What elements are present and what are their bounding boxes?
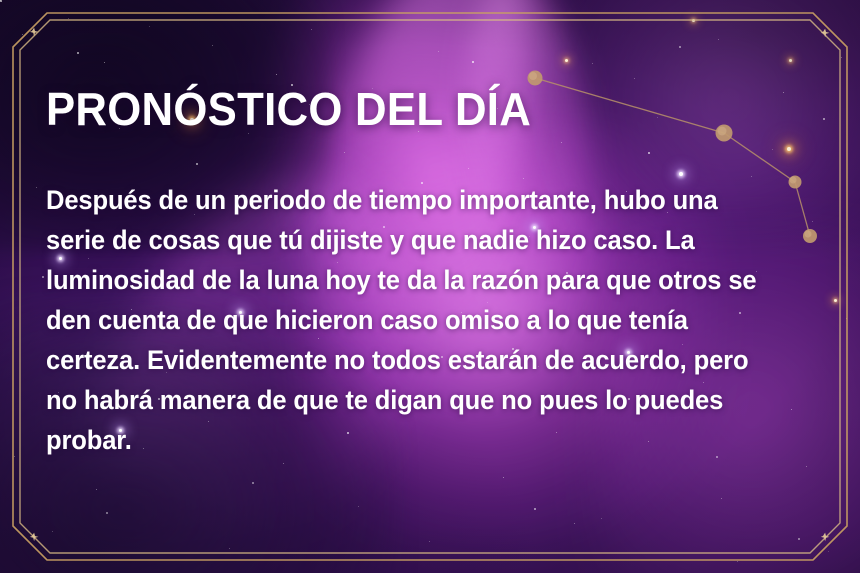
horoscope-card: PRONÓSTICO DEL DÍA Después de un periodo… bbox=[0, 0, 860, 573]
horoscope-body-text: Después de un periodo de tiempo importan… bbox=[46, 132, 781, 460]
page-title: PRONÓSTICO DEL DÍA bbox=[46, 86, 778, 132]
card-content: PRONÓSTICO DEL DÍA Después de un periodo… bbox=[46, 86, 816, 460]
